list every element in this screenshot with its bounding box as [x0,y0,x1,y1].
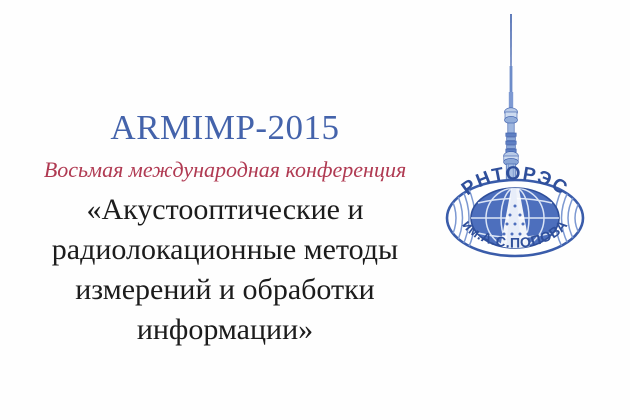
event-code-heading: ARMIMP-2015 [0,108,450,148]
rntores-popov-logo: РНТОРЭС им.А.С.ПОПОВА [440,6,590,262]
title-line-3: измерений и обработки [0,270,450,310]
conference-poster: ARMIMP-2015 Восьмая международная конфер… [0,0,630,420]
title-line-1: «Акустооптические и [0,190,450,230]
event-subtitle: Восьмая международная конференция [0,157,450,183]
poster-text-block: ARMIMP-2015 Восьмая международная конфер… [0,0,450,420]
event-title: «Акустооптические и радиолокационные мет… [0,190,450,350]
title-line-4: информации» [0,310,450,350]
title-line-2: радиолокационные методы [0,230,450,270]
